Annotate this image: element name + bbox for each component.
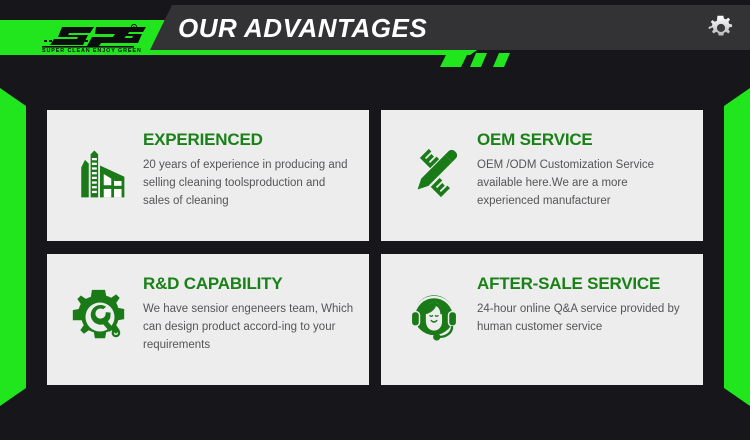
right-accent-shape — [724, 88, 750, 406]
card-description: 24-hour online Q&A service provided by h… — [477, 301, 689, 337]
card-icon-wrapper — [395, 278, 473, 356]
card-icon-wrapper — [61, 278, 139, 356]
card-description: OEM /ODM Customization Service available… — [477, 157, 689, 210]
advantages-grid: EXPERIENCED 20 years of experience in pr… — [47, 110, 703, 385]
advantage-card-after-sale-service[interactable]: AFTER-SALE SERVICE 24-hour online Q&A se… — [381, 254, 703, 385]
advantage-card-oem-service[interactable]: OEM SERVICE OEM /ODM Customization Servi… — [381, 110, 703, 241]
card-description: 20 years of experience in producing and … — [143, 157, 355, 210]
accent-stripe-1 — [440, 53, 468, 67]
card-description: We have sensior engeneers team, Which ca… — [143, 301, 355, 354]
gear-icon — [706, 13, 736, 43]
page-title: OUR ADVANTAGES — [178, 13, 427, 44]
card-icon-wrapper — [61, 134, 139, 212]
card-title: AFTER-SALE SERVICE — [477, 274, 689, 294]
settings-button[interactable] — [704, 11, 738, 45]
pencil-ruler-icon — [405, 144, 463, 202]
advantage-card-experienced[interactable]: EXPERIENCED 20 years of experience in pr… — [47, 110, 369, 241]
card-title: R&D CAPABILITY — [143, 274, 355, 294]
accent-stripe-2 — [470, 53, 487, 67]
page-header: R SUPER CLEAN ENJOY GREEN OUR ADVANTAGES — [0, 0, 750, 75]
advantage-card-rd-capability[interactable]: R&D CAPABILITY We have sensior engeneers… — [47, 254, 369, 385]
logo-tagline: SUPER CLEAN ENJOY GREEN — [42, 48, 142, 54]
left-accent-shape — [0, 88, 26, 406]
gear-wrench-icon — [70, 287, 130, 347]
building-icon — [70, 143, 130, 203]
brand-logo[interactable]: R SUPER CLEAN ENJOY GREEN — [28, 24, 146, 54]
headset-agent-icon — [405, 288, 463, 346]
card-body: EXPERIENCED 20 years of experience in pr… — [139, 126, 355, 210]
accent-stripe-3 — [493, 53, 510, 67]
card-icon-wrapper — [395, 134, 473, 212]
card-title: OEM SERVICE — [477, 130, 689, 150]
card-body: R&D CAPABILITY We have sensior engeneers… — [139, 270, 355, 354]
card-body: OEM SERVICE OEM /ODM Customization Servi… — [473, 126, 689, 210]
card-title: EXPERIENCED — [143, 130, 355, 150]
card-body: AFTER-SALE SERVICE 24-hour online Q&A se… — [473, 270, 689, 337]
